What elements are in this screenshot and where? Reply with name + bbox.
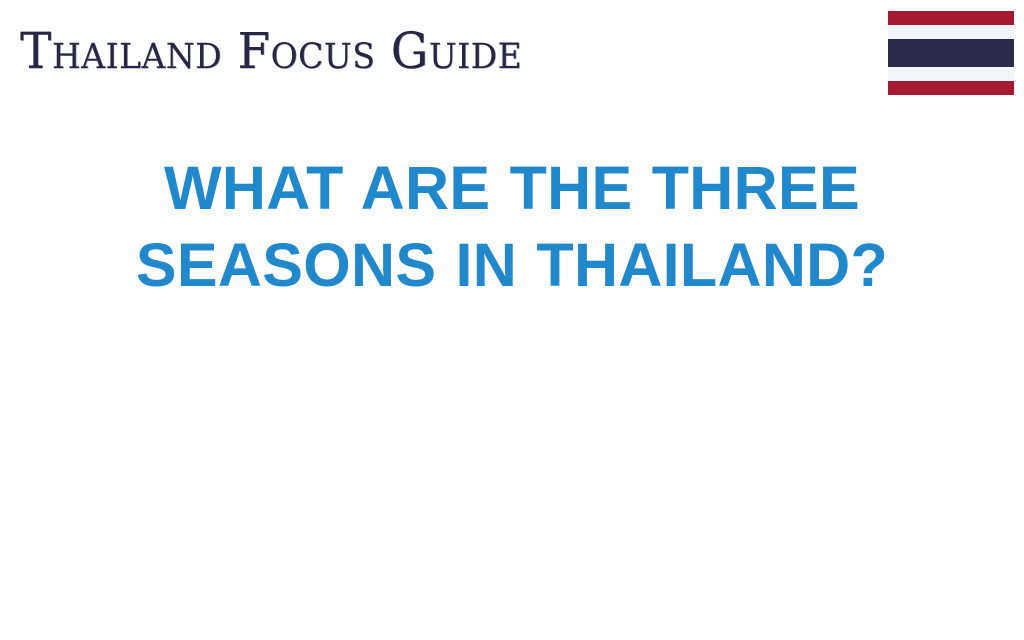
site-logo-text: Thailand Focus Guide [20, 26, 522, 76]
article-body [0, 360, 1024, 640]
flag-stripe-red-top [888, 11, 1014, 25]
page-root: Thailand Focus Guide What Are The Three … [0, 0, 1024, 640]
thailand-flag-icon [888, 11, 1014, 95]
flag-stripe-white-bottom [888, 67, 1014, 81]
article-main: What Are The Three Seasons in Thailand? [0, 150, 1024, 304]
site-header: Thailand Focus Guide [0, 0, 1024, 106]
flag-stripe-navy [888, 39, 1014, 67]
flag-stripe-red-bottom [888, 81, 1014, 95]
page-title: What Are The Three Seasons in Thailand? [0, 150, 1024, 304]
site-logo[interactable]: Thailand Focus Guide [20, 12, 540, 90]
flag-stripe-white-top [888, 25, 1014, 39]
